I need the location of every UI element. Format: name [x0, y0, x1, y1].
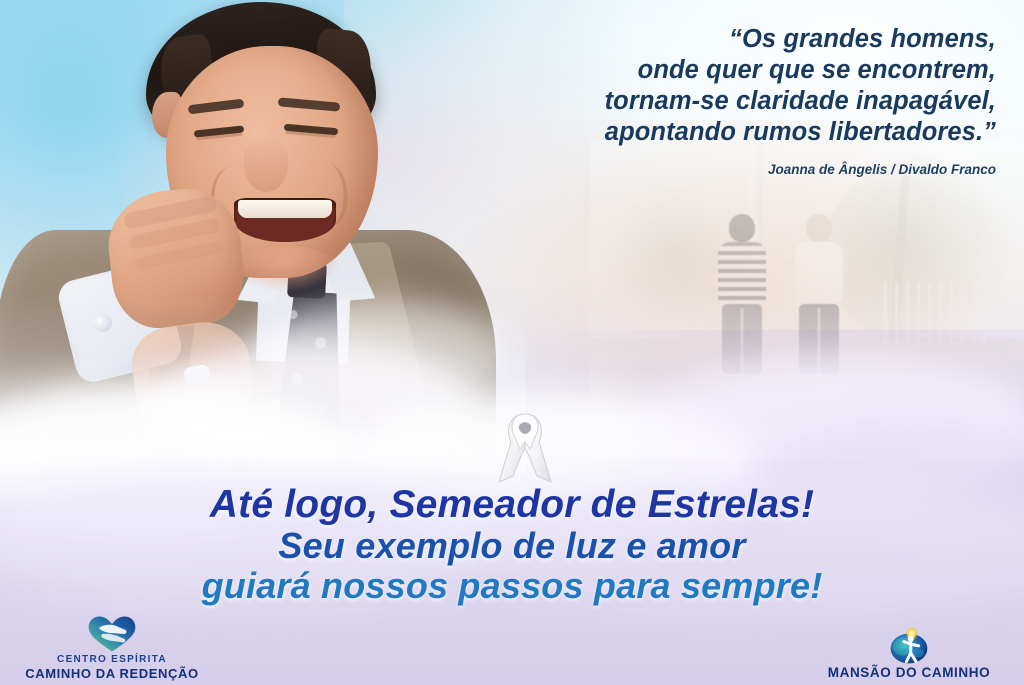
portrait-teeth [238, 200, 332, 218]
portrait-mouth [234, 198, 336, 242]
logo-left-line-1: CENTRO ESPÍRITA [12, 654, 212, 666]
heart-hands-icon [12, 614, 212, 654]
headline-line-3: guiará nossos passos para sempre! [0, 566, 1024, 606]
portrait-chin [230, 246, 340, 292]
quote-line-4: apontando rumos libertadores.” [436, 117, 996, 148]
headline-block: Até logo, Semeador de Estrelas! Seu exem… [0, 484, 1024, 606]
headline-line-1: Até logo, Semeador de Estrelas! [0, 484, 1024, 526]
quote-line-2: onde quer que se encontrem, [436, 55, 996, 86]
scene-fade-overlay [590, 140, 1024, 460]
background-scene-walking-figures [590, 140, 1024, 460]
portrait-divaldo-franco [6, 0, 476, 454]
mourning-ribbon-icon [487, 408, 563, 490]
quote-attribution: Joanna de Ângelis / Divaldo Franco [436, 162, 996, 177]
headline-line-2: Seu exemplo de luz e amor [0, 526, 1024, 566]
quote-line-1: “Os grandes homens, [436, 24, 996, 55]
memorial-poster: “Os grandes homens, onde quer que se enc… [0, 0, 1024, 685]
logo-right-line-1: MANSÃO DO CAMINHO [804, 665, 1014, 681]
quote-block: “Os grandes homens, onde quer que se enc… [436, 24, 996, 177]
logo-mansao-do-caminho: MANSÃO DO CAMINHO [804, 625, 1014, 681]
globe-figure-torch-icon [804, 625, 1014, 665]
quote-line-3: tornam-se claridade inapagável, [436, 86, 996, 117]
portrait-bottom-fade [0, 294, 526, 474]
logo-centro-espirita: CENTRO ESPÍRITA CAMINHO DA REDENÇÃO [12, 614, 212, 681]
logo-left-line-2: CAMINHO DA REDENÇÃO [12, 666, 212, 681]
